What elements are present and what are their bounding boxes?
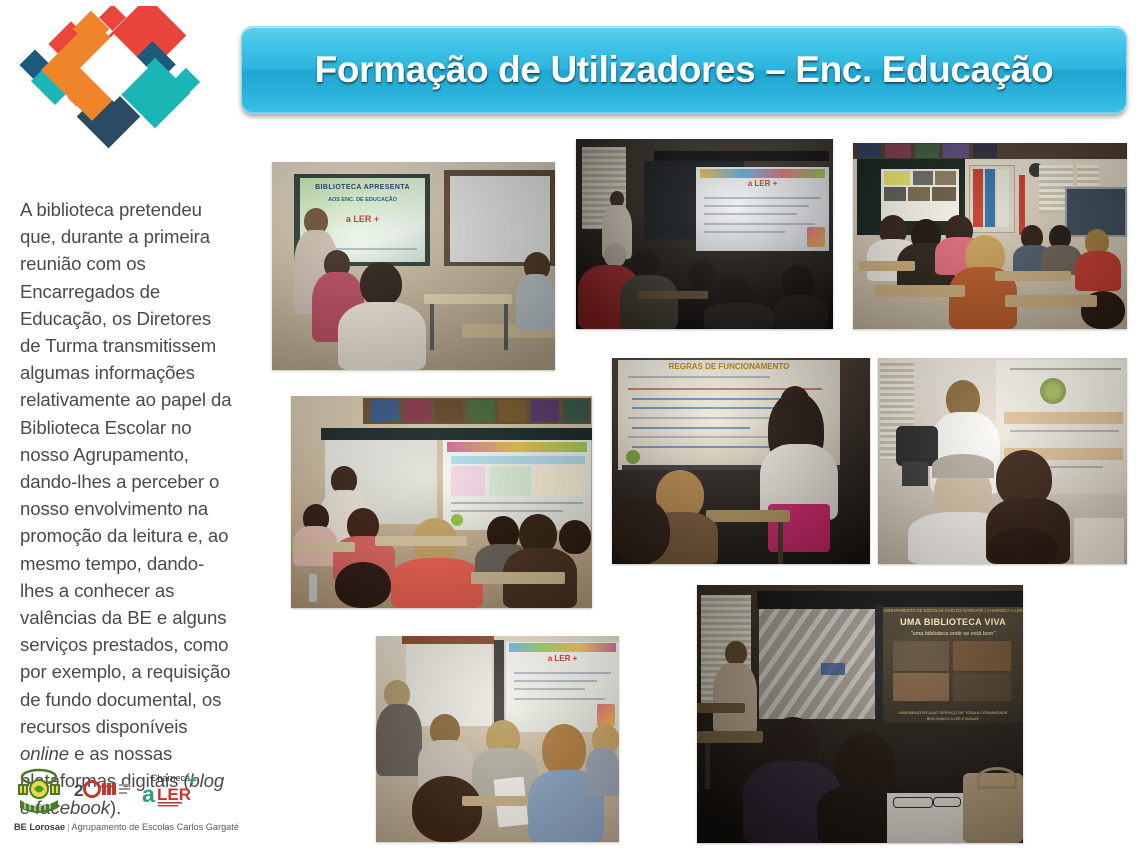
photo-sala-apresentacao-aler: a LER + — [376, 636, 619, 842]
25-anos-rbe-logo: 2 — [74, 777, 130, 803]
page-title: Formação de Utilizadores – Enc. Educação — [315, 49, 1054, 91]
footer-credit-text: Agrupamento de Escolas Carlos Gargaté — [71, 822, 239, 832]
footer-logo-row: 2 Charneca a LER + — [14, 766, 244, 814]
photo-sala-quadro-horarios — [291, 396, 592, 608]
paragraph-italic-online: online — [20, 743, 69, 764]
brand-logo — [8, 6, 233, 156]
photo-sala-luminosa-assistencia — [853, 143, 1127, 329]
photo-formadora-regras-funcionamento: REGRAS DE FUNCIONAMENTO — [612, 358, 870, 564]
charneca-a-ler-mais-logo: Charneca a LER + — [140, 769, 202, 811]
photo-sala-escura-projecao: a LER + — [576, 139, 833, 329]
description-paragraph: A biblioteca pretendeu que, durante a pr… — [20, 196, 234, 822]
svg-text:LER: LER — [157, 785, 191, 804]
svg-text:Charneca: Charneca — [151, 773, 190, 783]
title-banner: Formação de Utilizadores – Enc. Educação — [241, 26, 1127, 114]
svg-text:+: + — [188, 772, 197, 789]
photo-formadora-sala-reuniao — [878, 358, 1127, 564]
photo-sala-apresentacao-biblioteca: BIBLIOTECA APRESENTA AOS ENC. DE EDUCAÇÃ… — [272, 162, 555, 370]
paragraph-segment-1: A biblioteca pretendeu que, durante a pr… — [20, 199, 231, 737]
svg-text:a: a — [142, 781, 155, 807]
footer-credit: BE Lorosae|Agrupamento de Escolas Carlos… — [14, 822, 239, 832]
be-lorosae-crest-logo — [14, 767, 64, 813]
footer-credit-bold: BE Lorosae — [14, 822, 65, 832]
svg-text:2: 2 — [74, 781, 83, 800]
photo-uma-biblioteca-viva: AGRUPAMENTO DE ESCOLAS CARLOS GARGATÉ | … — [697, 585, 1023, 843]
